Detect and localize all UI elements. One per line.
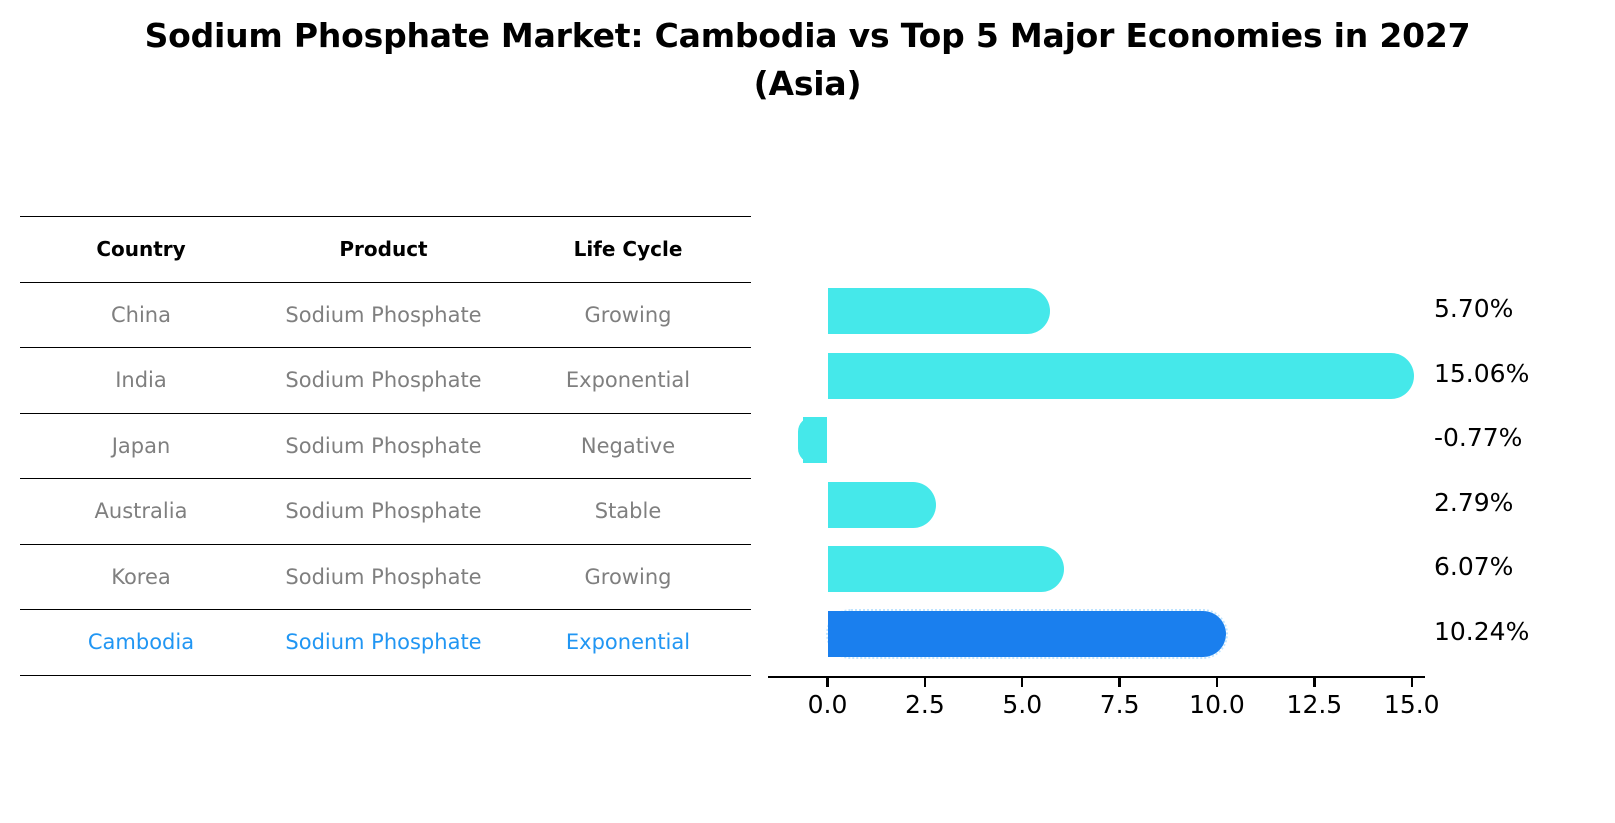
page-title-line-1: Sodium Phosphate Market: Cambodia vs Top… [0,12,1615,60]
cell-country: India [20,348,262,414]
bar-baseline-cap [828,482,852,528]
bar-cambodia [828,611,1227,657]
cell-product: Sodium Phosphate [262,479,505,545]
cell-country: Cambodia [20,610,262,676]
x-tick-15.0 [1411,676,1413,687]
value-label-korea: 6.07% [1434,552,1513,581]
cell-product: Sodium Phosphate [262,413,505,479]
cell-life-cycle: Exponential [505,610,751,676]
column-header-country: Country [20,217,262,283]
x-tick-label-5.0: 5.0 [1002,690,1042,719]
x-tick-label-12.5: 12.5 [1287,690,1343,719]
cell-product: Sodium Phosphate [262,282,505,348]
x-tick-label-2.5: 2.5 [905,690,945,719]
bar-baseline-cap [828,288,852,334]
bar-india [828,353,1415,399]
bar-china [828,288,1050,334]
bar-japan [798,417,828,463]
cell-country: Korea [20,544,262,610]
x-tick-label-15.0: 15.0 [1384,690,1440,719]
cell-product: Sodium Phosphate [262,610,505,676]
x-axis-line [768,676,1425,678]
table-row[interactable]: China Sodium Phosphate Growing [20,282,751,348]
cell-product: Sodium Phosphate [262,348,505,414]
table-header-row: Country Product Life Cycle [20,217,751,283]
cell-country: China [20,282,262,348]
bar-baseline-cap [828,353,852,399]
chart-title: Sodium Phosphate Market: Cambodia vs Top… [0,12,1615,108]
comparison-table: Country Product Life Cycle China Sodium … [20,216,751,676]
table-body: China Sodium Phosphate Growing India Sod… [20,282,751,675]
bar-baseline-cap [803,417,827,463]
cell-product: Sodium Phosphate [262,544,505,610]
value-label-cambodia: 10.24% [1434,617,1529,646]
bar-baseline-cap [828,546,852,592]
bar-baseline-cap [828,611,852,657]
cell-country: Australia [20,479,262,545]
x-tick-10.0 [1216,676,1218,687]
column-header-life-cycle: Life Cycle [505,217,751,283]
country-table: Country Product Life Cycle China Sodium … [20,216,751,676]
table-row[interactable]: Australia Sodium Phosphate Stable [20,479,751,545]
cell-life-cycle: Exponential [505,348,751,414]
value-label-india: 15.06% [1434,359,1529,388]
value-label-australia: 2.79% [1434,488,1513,517]
cell-life-cycle: Growing [505,544,751,610]
x-tick-label-10.0: 10.0 [1189,690,1245,719]
value-label-japan: -0.77% [1434,423,1522,452]
table-row[interactable]: Korea Sodium Phosphate Growing [20,544,751,610]
x-tick-7.5 [1118,676,1120,687]
cell-life-cycle: Growing [505,282,751,348]
bar-korea [828,546,1064,592]
x-tick-5.0 [1021,676,1023,687]
cell-life-cycle: Negative [505,413,751,479]
table-row-highlighted[interactable]: Cambodia Sodium Phosphate Exponential [20,610,751,676]
x-tick-2.5 [924,676,926,687]
cell-country: Japan [20,413,262,479]
page-title-line-2: (Asia) [0,60,1615,108]
value-label-china: 5.70% [1434,294,1513,323]
bar-australia [828,482,937,528]
table-header: Country Product Life Cycle [20,217,751,283]
cell-life-cycle: Stable [505,479,751,545]
table-row[interactable]: Japan Sodium Phosphate Negative [20,413,751,479]
x-tick-label-7.5: 7.5 [1100,690,1140,719]
x-tick-label-0.0: 0.0 [808,690,848,719]
table-row[interactable]: India Sodium Phosphate Exponential [20,348,751,414]
x-tick-12.5 [1313,676,1315,687]
x-tick-0.0 [826,676,828,687]
column-header-product: Product [262,217,505,283]
